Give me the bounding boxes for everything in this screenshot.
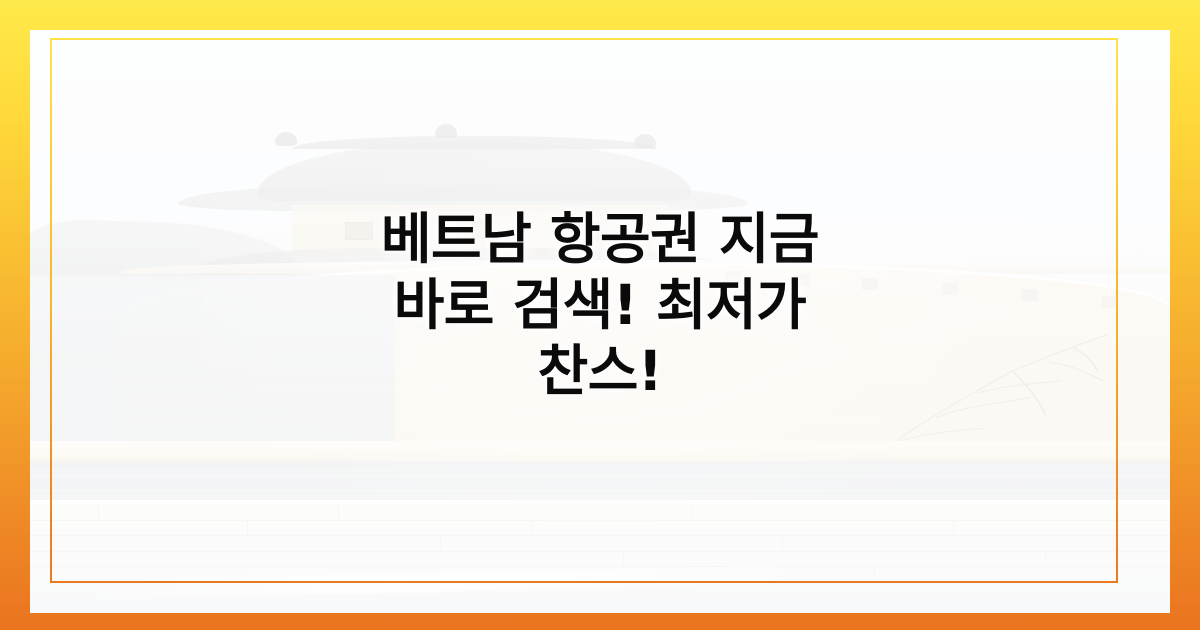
brick-course bbox=[30, 461, 1170, 505]
roof-finial-icon bbox=[634, 134, 656, 148]
gate-roof-ridge bbox=[292, 136, 657, 150]
roof-finial-icon bbox=[275, 132, 297, 146]
crenellation-block bbox=[1102, 296, 1118, 308]
promo-banner: 베트남 항공권 지금 바로 검색! 최저가 찬스! bbox=[0, 0, 1200, 630]
photo-plate bbox=[30, 30, 1170, 613]
stone-slab-left bbox=[30, 275, 395, 467]
roof-finial-icon bbox=[435, 124, 457, 138]
crenellation-block bbox=[1022, 289, 1038, 301]
gate-window bbox=[571, 222, 599, 240]
crenellation-block bbox=[862, 278, 878, 290]
gate-window bbox=[458, 221, 486, 239]
crenellation-block bbox=[942, 283, 958, 295]
background-photo bbox=[30, 30, 1170, 613]
crenellation-block bbox=[794, 274, 810, 286]
crenellation-block bbox=[725, 271, 741, 283]
gate-window bbox=[345, 222, 373, 240]
